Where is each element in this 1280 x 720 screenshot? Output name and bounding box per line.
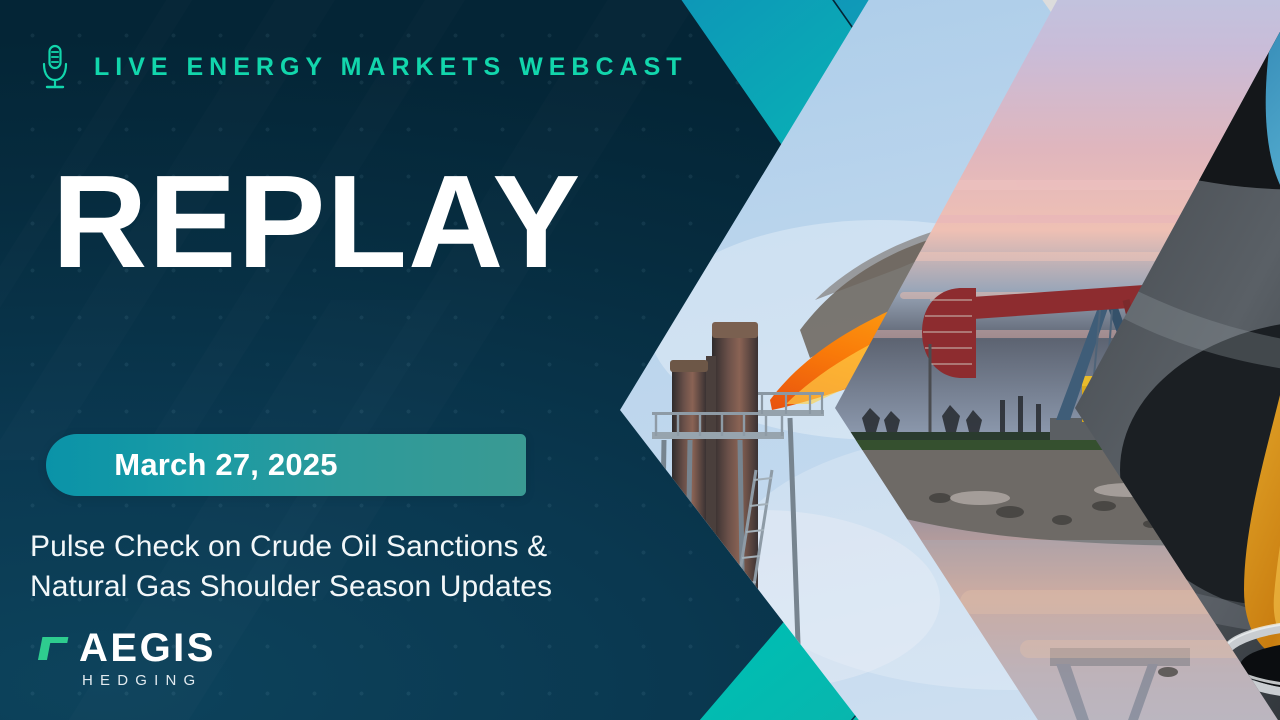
logo-tagline: HEDGING xyxy=(82,672,216,689)
aegis-hedging-logo: AEGIS HEDGING xyxy=(36,629,216,689)
logo-wordmark: AEGIS HEDGING xyxy=(79,629,216,689)
aegis-chevron-mark xyxy=(36,634,70,664)
logo-name: AEGIS xyxy=(79,629,216,667)
subtitle: Pulse Check on Crude Oil Sanctions & Nat… xyxy=(30,527,552,607)
eyebrow: LIVE ENERGY MARKETS WEBCAST xyxy=(38,44,688,90)
subtitle-line-2: Natural Gas Shoulder Season Updates xyxy=(30,567,552,607)
microphone-icon xyxy=(38,44,72,90)
eyebrow-text: LIVE ENERGY MARKETS WEBCAST xyxy=(94,55,688,80)
title-card: LIVE ENERGY MARKETS WEBCAST REPLAY March… xyxy=(0,0,1280,720)
page-title: REPLAY xyxy=(52,156,581,288)
date-badge: March 27, 2025 xyxy=(46,434,526,496)
background-dot-pattern xyxy=(0,0,1280,720)
subtitle-line-1: Pulse Check on Crude Oil Sanctions & xyxy=(30,530,547,563)
date-badge-text: March 27, 2025 xyxy=(114,447,457,483)
